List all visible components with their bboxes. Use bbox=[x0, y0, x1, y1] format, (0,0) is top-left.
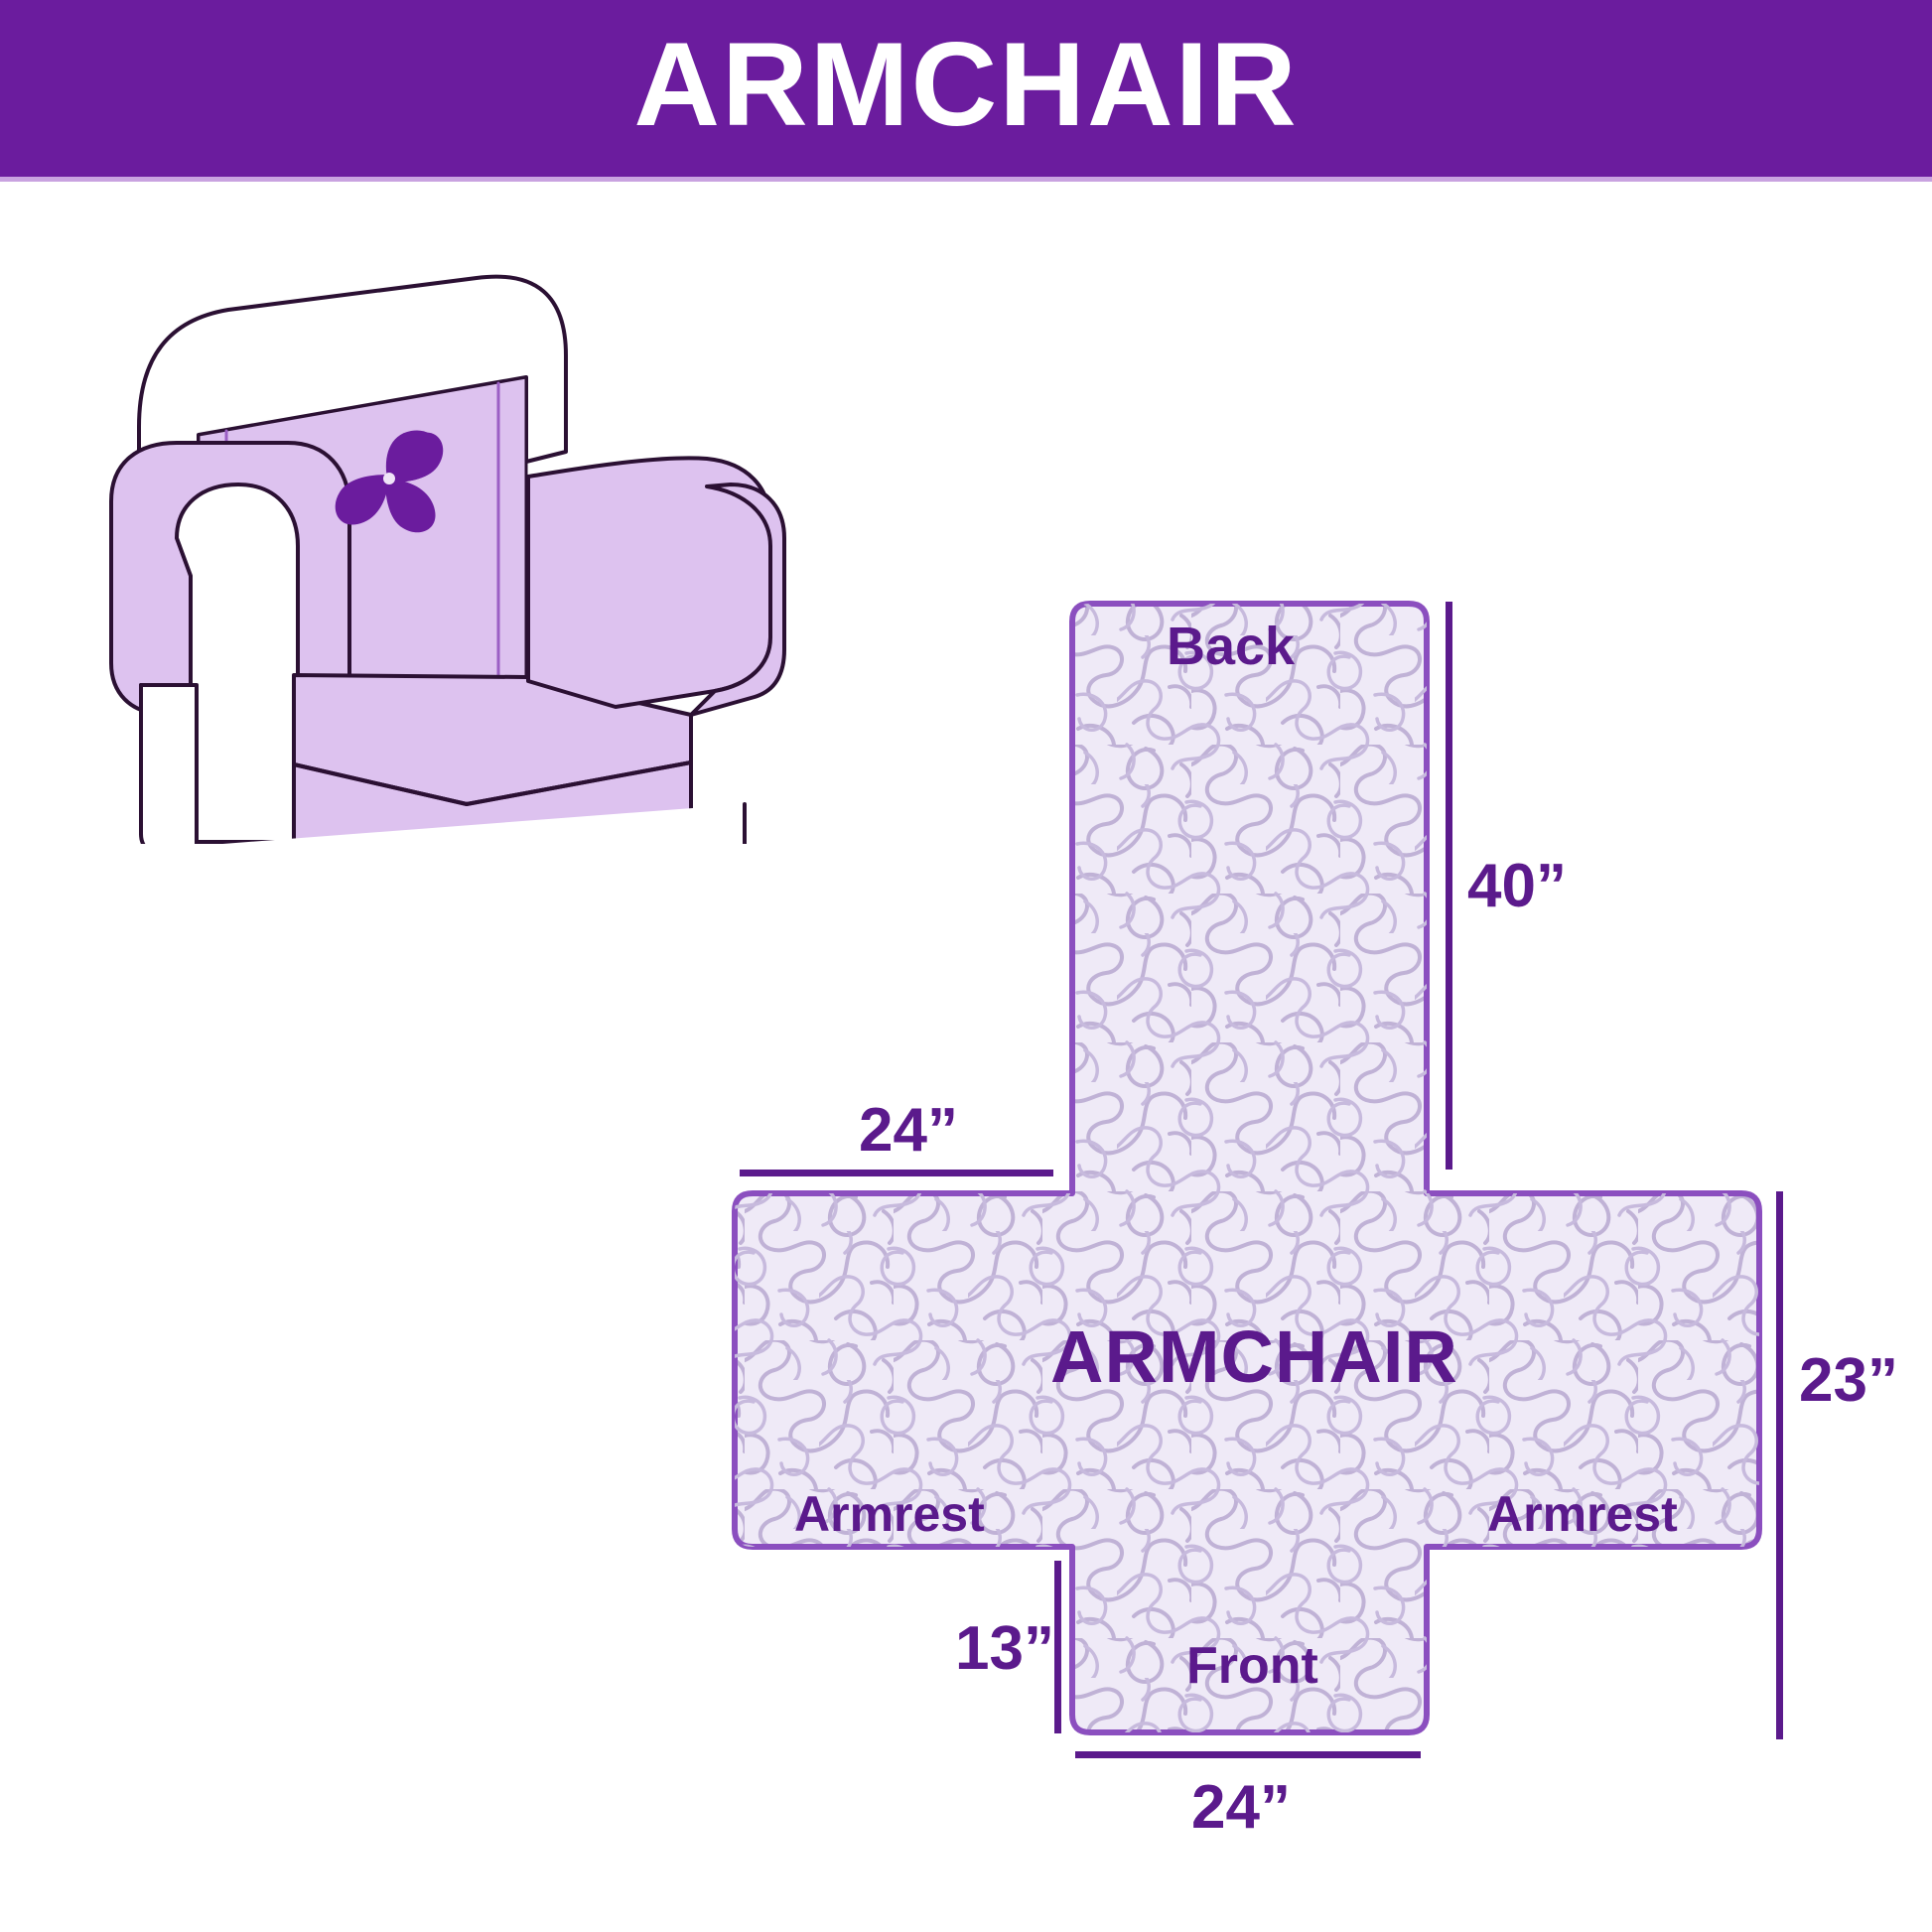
dimension-line-front-width bbox=[1075, 1751, 1421, 1758]
panel-label-armrest-right: Armrest bbox=[1487, 1489, 1678, 1539]
dimension-line-back-height bbox=[1446, 602, 1452, 1170]
panel-label-armrest-left: Armrest bbox=[794, 1489, 985, 1539]
dimension-label-front-width: 24” bbox=[1191, 1777, 1291, 1839]
cross-panel-shape bbox=[735, 604, 1759, 1732]
dimension-label-back-height: 40” bbox=[1467, 856, 1567, 917]
dimension-label-front-height: 13” bbox=[955, 1618, 1054, 1680]
dimension-line-back-width bbox=[740, 1170, 1053, 1176]
dimension-label-back-width: 24” bbox=[859, 1100, 958, 1162]
dimension-line-armrest-height bbox=[1776, 1191, 1783, 1739]
panel-label-armchair: ARMCHAIR bbox=[1050, 1320, 1458, 1394]
panel-label-back: Back bbox=[1167, 620, 1295, 673]
dimension-line-front-height bbox=[1054, 1561, 1061, 1733]
product-diagram-page: ARMCHAIR bbox=[0, 0, 1932, 1932]
dimension-label-armrest-height: 23” bbox=[1799, 1350, 1898, 1412]
panel-label-front: Front bbox=[1186, 1640, 1318, 1692]
